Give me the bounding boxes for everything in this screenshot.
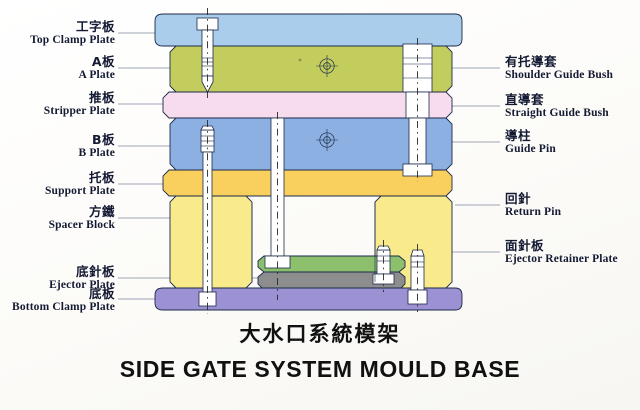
diagram-page: .o { stroke:#1b2a4a; stroke-width:0.9; }… (0, 0, 640, 410)
label-stripper-plate: 推板 Stripper Plate (44, 91, 115, 117)
label-en: Ejector Retainer Plate (505, 253, 618, 265)
label-cn: 有托導套 (505, 55, 613, 69)
label-en: Bottom Clamp Plate (12, 301, 115, 313)
label-en: A Plate (79, 69, 116, 81)
label-cn: 直導套 (505, 93, 609, 107)
label-en: Stripper Plate (44, 105, 115, 117)
label-en: Support Plate (45, 185, 115, 197)
label-en: Return Pin (505, 206, 561, 218)
label-guide-pin: 導柱 Guide Pin (505, 129, 556, 155)
title-english: SIDE GATE SYSTEM MOULD BASE (0, 356, 640, 383)
label-cn: B板 (79, 133, 116, 147)
diagram-title: 大水口系統模架 SIDE GATE SYSTEM MOULD BASE (0, 318, 640, 383)
label-cn: 面針板 (505, 239, 618, 253)
label-top-clamp-plate: 工字板 Top Clamp Plate (30, 20, 115, 46)
label-bottom-clamp-plate: 底板 Bottom Clamp Plate (12, 287, 115, 313)
label-cn: 底針板 (49, 265, 115, 279)
label-return-pin: 回針 Return Pin (505, 192, 561, 218)
title-chinese: 大水口系統模架 (0, 318, 640, 348)
label-ejector-retainer-plate: 面針板 Ejector Retainer Plate (505, 239, 618, 265)
label-en: Guide Pin (505, 143, 556, 155)
label-b-plate: B板 B Plate (79, 133, 116, 159)
label-cn: 底板 (12, 287, 115, 301)
label-cn: 推板 (44, 91, 115, 105)
label-cn: 方鐵 (49, 205, 115, 219)
label-cn: 導柱 (505, 129, 556, 143)
label-en: Straight Guide Bush (505, 107, 609, 119)
label-en: B Plate (79, 147, 116, 159)
label-straight-guide-bush: 直導套 Straight Guide Bush (505, 93, 609, 119)
label-en: Top Clamp Plate (30, 34, 115, 46)
label-a-plate: A板 A Plate (79, 55, 116, 81)
label-en: Shoulder Guide Bush (505, 69, 613, 81)
label-shoulder-guide-bush: 有托導套 Shoulder Guide Bush (505, 55, 613, 81)
label-cn: 工字板 (30, 20, 115, 34)
label-support-plate: 托板 Support Plate (45, 171, 115, 197)
label-cn: 回針 (505, 192, 561, 206)
label-spacer-block: 方鐵 Spacer Block (49, 205, 115, 231)
label-en: Spacer Block (49, 219, 115, 231)
label-cn: 托板 (45, 171, 115, 185)
label-cn: A板 (79, 55, 116, 69)
